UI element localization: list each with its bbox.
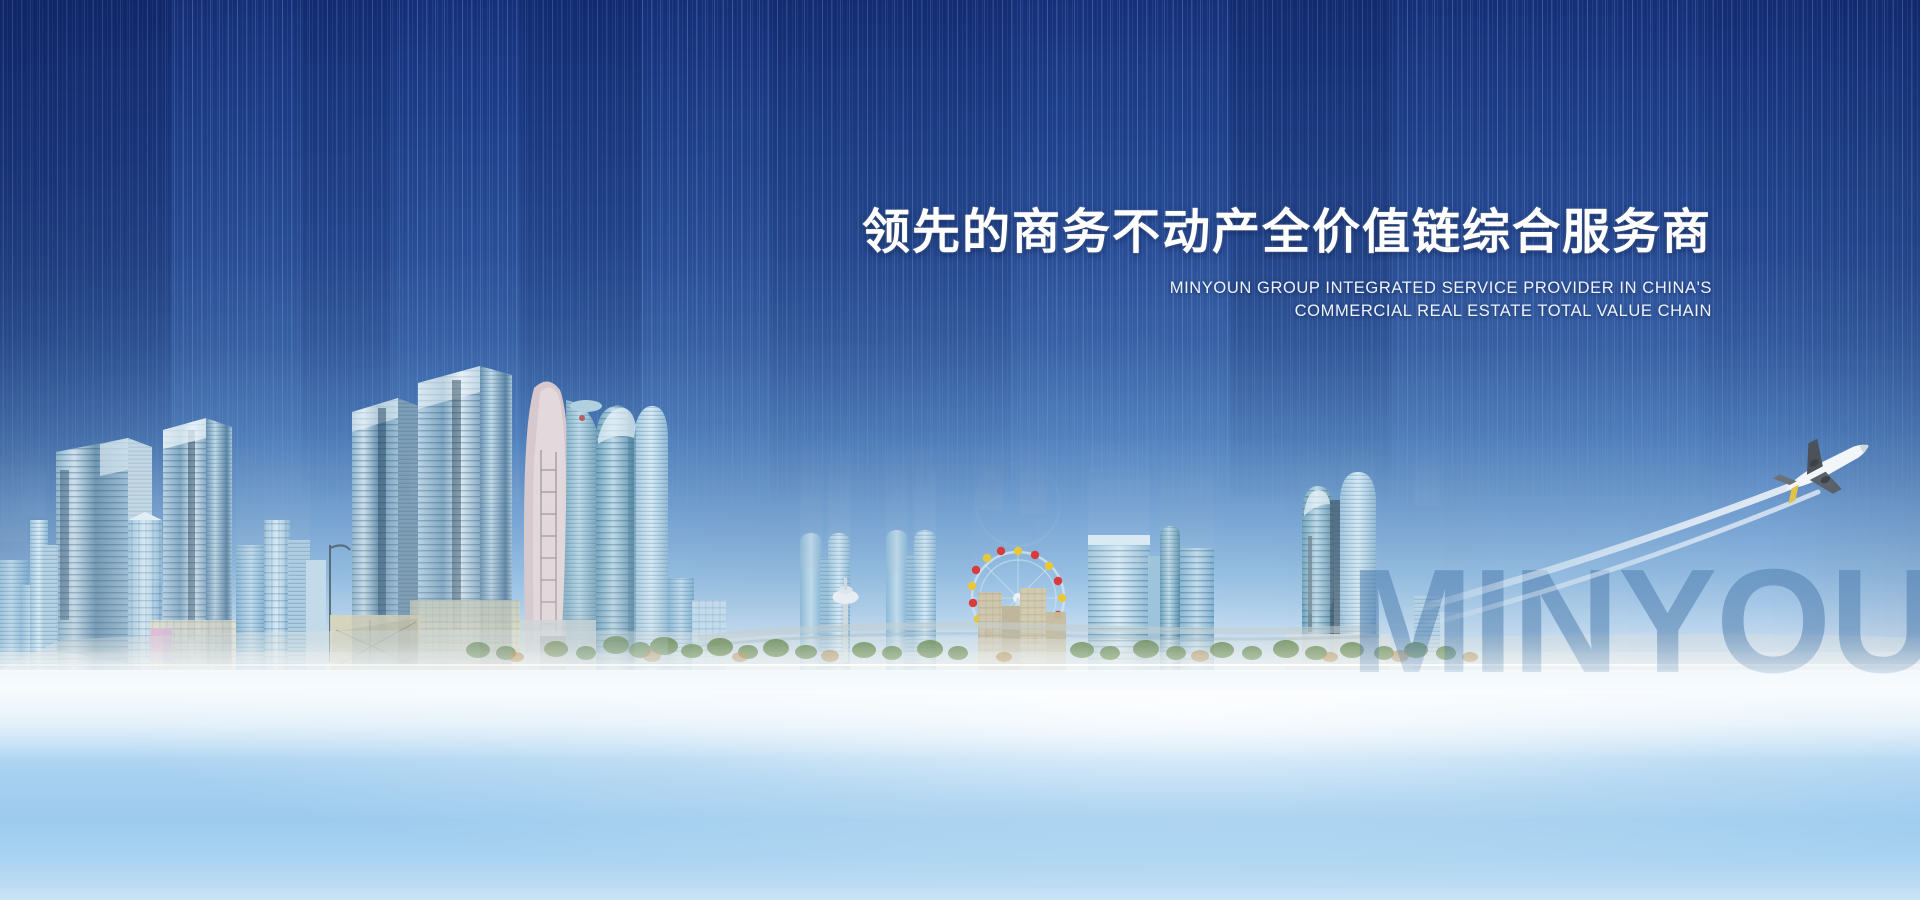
water-surface bbox=[0, 666, 1920, 900]
hero-subtitle-line-1: MINYOUN GROUP INTEGRATED SERVICE PROVIDE… bbox=[0, 277, 1712, 300]
hero-subtitle-line-2: COMMERCIAL REAL ESTATE TOTAL VALUE CHAIN bbox=[0, 300, 1712, 323]
hero-banner: MINYOUN 领先的商务不动产全价值链综合服务商 MINYOUN GROUP … bbox=[0, 0, 1920, 900]
hero-headline: 领先的商务不动产全价值链综合服务商 bbox=[0, 206, 1712, 260]
horizon-line bbox=[0, 664, 1920, 666]
hero-copy-block: 领先的商务不动产全价值链综合服务商 MINYOUN GROUP INTEGRAT… bbox=[0, 206, 1712, 324]
hero-subtitle: MINYOUN GROUP INTEGRATED SERVICE PROVIDE… bbox=[0, 277, 1712, 324]
